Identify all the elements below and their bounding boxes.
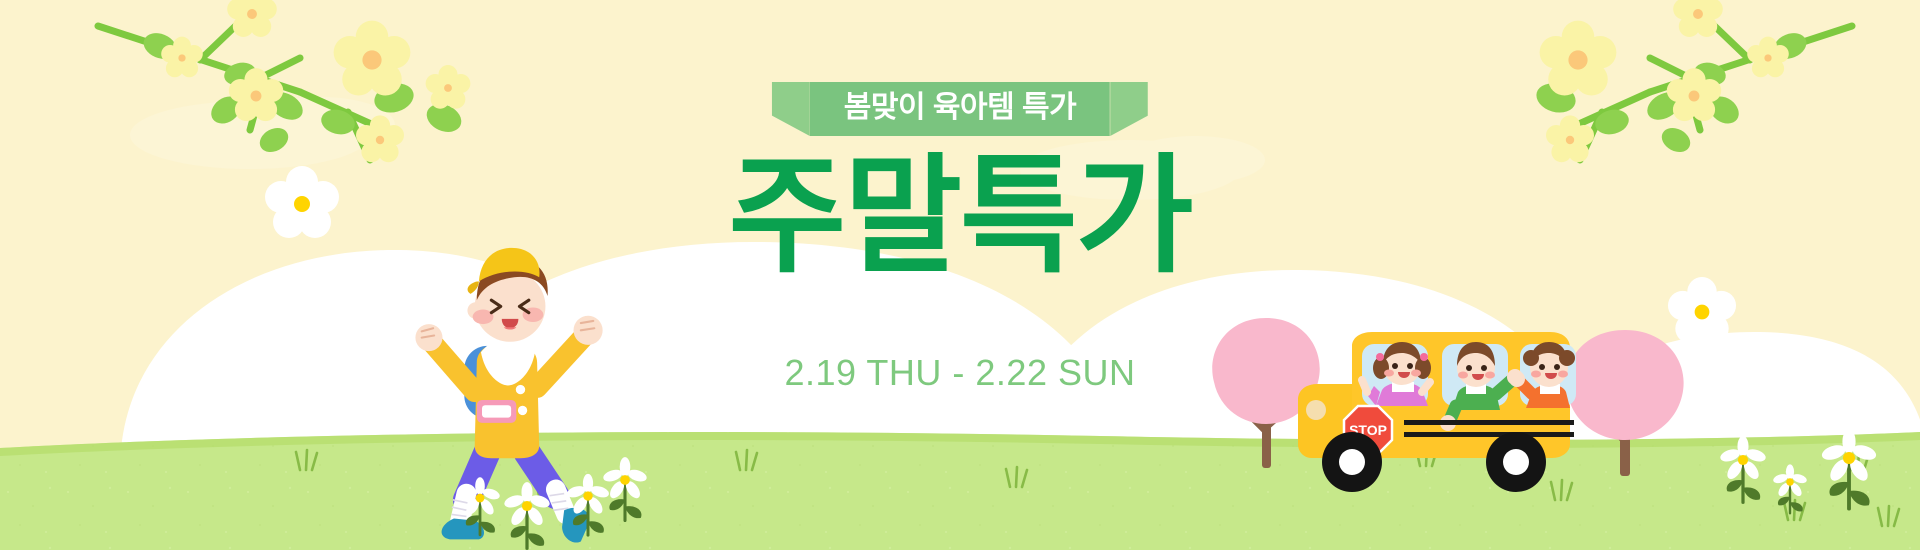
- banner-date-range: 2.19 THU - 2.22 SUN: [785, 352, 1136, 394]
- banner-title: 주말특가: [728, 150, 1191, 284]
- daisy-cluster-right: [1719, 429, 1878, 513]
- ribbon-label: 봄맞이 육아템 특가: [844, 91, 1076, 124]
- daisy-cluster-left: [459, 457, 648, 548]
- ribbon-tail-left: [772, 82, 810, 136]
- ribbon-body: 봄맞이 육아템 특가: [810, 82, 1110, 136]
- promo-banner[interactable]: STOP: [0, 0, 1920, 550]
- ribbon-tail-right: [1110, 82, 1148, 136]
- ribbon-badge: 봄맞이 육아템 특가: [772, 82, 1148, 136]
